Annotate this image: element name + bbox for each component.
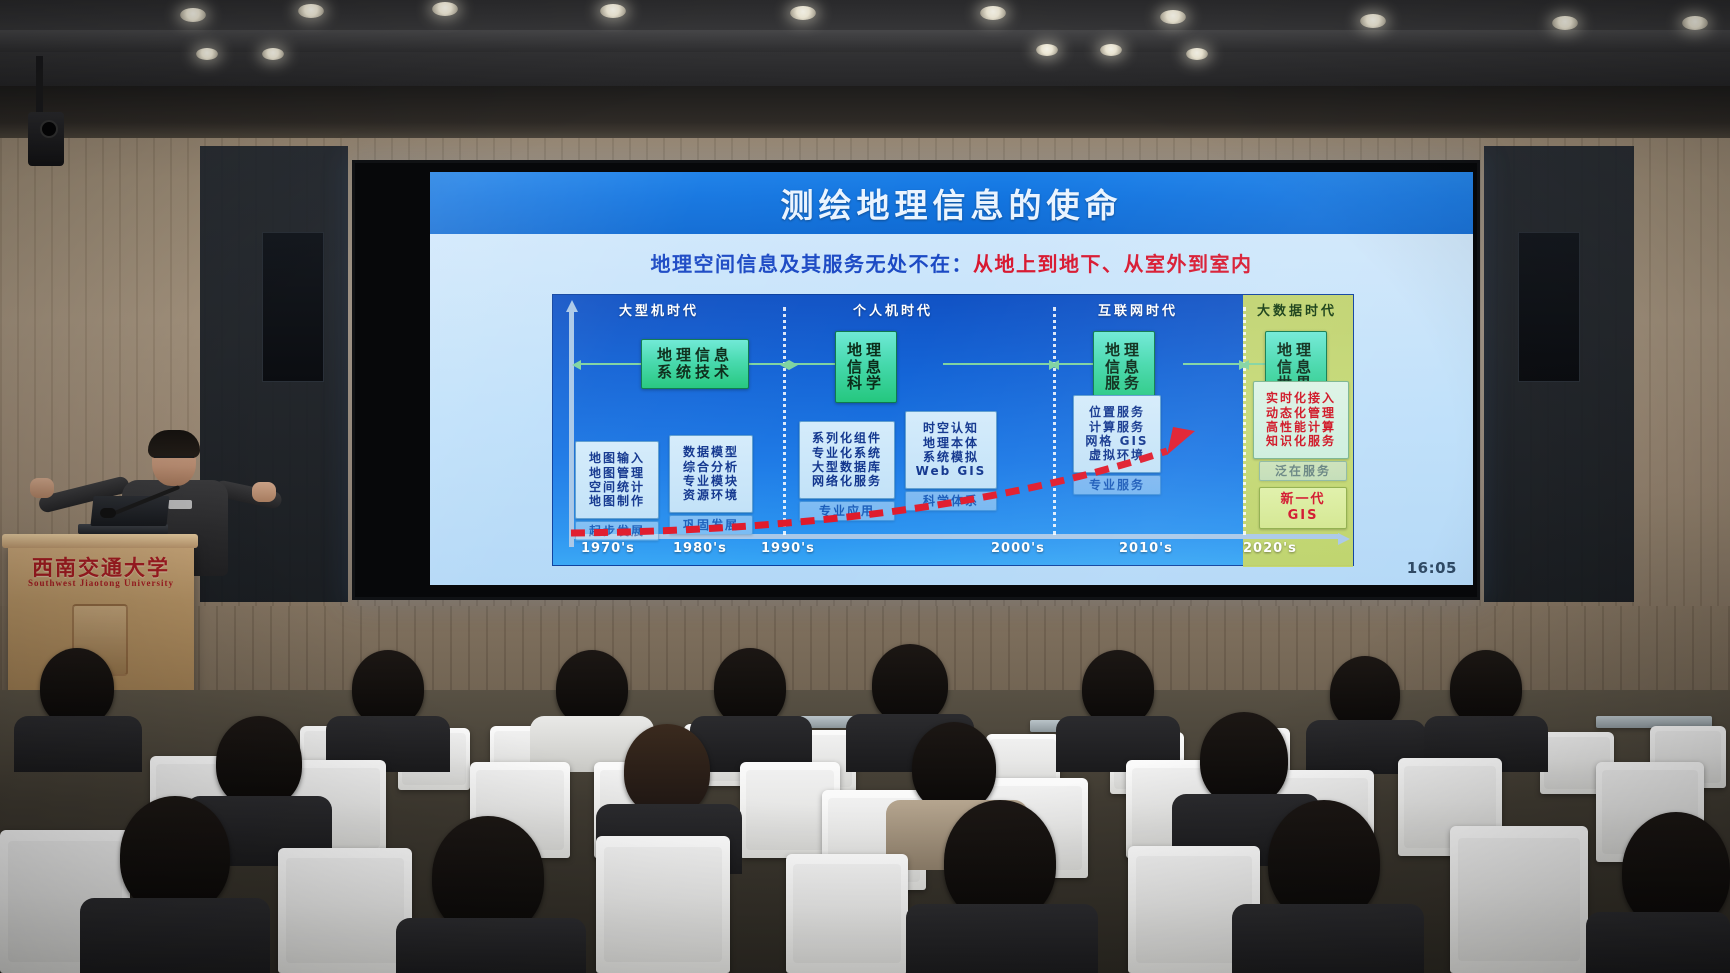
ceiling-band bbox=[0, 30, 1730, 52]
new-generation-line: 新一代 bbox=[1280, 492, 1325, 508]
detail-caption-4: 科学体系 bbox=[905, 491, 997, 511]
audience-head bbox=[216, 716, 302, 808]
detail-box-2: 数据模型 综合分析 专业模块 资源环境 bbox=[669, 435, 753, 513]
ceiling-light bbox=[980, 6, 1006, 20]
detail-caption-text: 专业服务 bbox=[1089, 478, 1145, 492]
presenter-left-hand bbox=[30, 478, 54, 498]
audience-shoulders bbox=[80, 898, 270, 973]
year-label: 2020's bbox=[1243, 541, 1297, 556]
audience-head bbox=[556, 650, 628, 726]
detail-item: 时空认知 bbox=[923, 421, 979, 435]
detail-item: 知识化服务 bbox=[1266, 434, 1336, 448]
audience-head bbox=[714, 648, 786, 726]
era-label-mainframe: 大型机时代 bbox=[619, 300, 699, 319]
detail-item: 高性能计算 bbox=[1266, 420, 1336, 434]
year-label: 1970's bbox=[581, 541, 635, 556]
microphone-icon bbox=[100, 508, 116, 518]
lecture-hall-photo: 测绘地理信息的使命 地理空间信息及其服务无处不在：从地上到地下、从室外到室内 大… bbox=[0, 0, 1730, 973]
new-generation-line: GIS bbox=[1288, 508, 1319, 524]
detail-box-1: 地图输入 地图管理 空间统计 地图制作 bbox=[575, 441, 659, 519]
era-divider bbox=[1053, 307, 1056, 535]
audience-shoulders bbox=[1586, 912, 1730, 973]
subtitle-red-text: 从地上到地下、从室外到室内 bbox=[973, 252, 1253, 276]
detail-caption-text: 泛在服务 bbox=[1275, 464, 1331, 478]
detail-item: 系列化组件 bbox=[812, 431, 882, 445]
chair bbox=[1450, 826, 1588, 973]
detail-item: 地理本体 bbox=[923, 436, 979, 450]
speaker-left bbox=[262, 232, 324, 382]
era-divider bbox=[783, 307, 786, 535]
audience-head bbox=[1200, 712, 1288, 806]
detail-item: 地图管理 bbox=[589, 466, 645, 480]
chair bbox=[596, 836, 730, 973]
audience-head bbox=[40, 648, 114, 726]
presenter-right-hand bbox=[252, 482, 276, 502]
detail-item: 网格 GIS bbox=[1085, 434, 1148, 448]
slide-title-text: 测绘地理信息的使命 bbox=[781, 179, 1123, 227]
detail-item: 地图输入 bbox=[589, 451, 645, 465]
year-label: 2000's bbox=[991, 541, 1045, 556]
slide-clock: 16:05 bbox=[1407, 559, 1457, 577]
stage-box-line: 信息 bbox=[847, 359, 885, 376]
detail-item: 空间统计 bbox=[589, 480, 645, 494]
ceiling-light bbox=[1552, 16, 1578, 30]
stage-box-line: 地理 bbox=[1277, 342, 1315, 359]
detail-item: 系统模拟 bbox=[923, 450, 979, 464]
ceiling-light bbox=[298, 4, 324, 18]
detail-caption-text: 起步发展 bbox=[589, 524, 645, 538]
detail-caption-text: 科学体系 bbox=[923, 494, 979, 508]
ceiling-light bbox=[196, 48, 218, 60]
audience-shoulders bbox=[906, 904, 1098, 973]
audience-head bbox=[352, 650, 424, 726]
stage-box-line: 信息 bbox=[1105, 359, 1143, 376]
new-generation-gis-box: 新一代 GIS bbox=[1259, 487, 1347, 529]
audience-head bbox=[120, 796, 230, 914]
audience-head bbox=[872, 644, 948, 724]
detail-box-4: 时空认知 地理本体 系统模拟 Web GIS bbox=[905, 411, 997, 489]
stage-box-line: 地理 bbox=[847, 342, 885, 359]
speaker-right bbox=[1518, 232, 1580, 382]
audience-head bbox=[912, 722, 996, 812]
detail-item: 虚拟环境 bbox=[1089, 448, 1145, 462]
ceiling-light bbox=[1682, 16, 1708, 30]
audience-head bbox=[1450, 650, 1522, 726]
camera-lens-icon bbox=[40, 120, 58, 138]
stage-box-line: 信息 bbox=[1277, 359, 1315, 376]
detail-item: 位置服务 bbox=[1089, 405, 1145, 419]
detail-item: Web GIS bbox=[916, 464, 987, 478]
year-label: 1990's bbox=[761, 541, 815, 556]
ceiling-light bbox=[790, 6, 816, 20]
stage-box-line: 地理信息 bbox=[657, 347, 733, 364]
detail-item: 专业化系统 bbox=[812, 446, 882, 460]
slide-body: 地理空间信息及其服务无处不在：从地上到地下、从室外到室内 大型机时代 个人机时代… bbox=[430, 234, 1473, 585]
gis-evolution-diagram: 大型机时代 个人机时代 互联网时代 大数据时代 地理信息 系统技术 地 bbox=[552, 294, 1354, 566]
podium-top-surface bbox=[2, 534, 198, 548]
ceiling-light bbox=[432, 2, 458, 16]
detail-box-5: 位置服务 计算服务 网格 GIS 虚拟环境 bbox=[1073, 395, 1161, 473]
detail-caption-text: 专业应用 bbox=[819, 504, 875, 518]
stage-box-line: 科学 bbox=[847, 375, 885, 392]
ceiling-light bbox=[180, 8, 206, 22]
presenter-glasses-icon bbox=[154, 456, 194, 465]
era-label-pc: 个人机时代 bbox=[853, 300, 933, 319]
stage-box-line: 系统技术 bbox=[657, 364, 733, 381]
detail-item: 实时化接入 bbox=[1266, 391, 1336, 405]
detail-caption-5: 专业服务 bbox=[1073, 475, 1161, 495]
stage-box-line: 地理 bbox=[1105, 342, 1143, 359]
slide-subtitle: 地理空间信息及其服务无处不在：从地上到地下、从室外到室内 bbox=[430, 248, 1473, 277]
stage-connector bbox=[943, 363, 1049, 365]
audience-shoulders bbox=[396, 918, 586, 973]
projection-screen[interactable]: 测绘地理信息的使命 地理空间信息及其服务无处不在：从地上到地下、从室外到室内 大… bbox=[430, 172, 1473, 585]
era-label-bigdata: 大数据时代 bbox=[1257, 300, 1337, 319]
detail-item: 资源环境 bbox=[683, 488, 739, 502]
detail-item: 大型数据库 bbox=[812, 460, 882, 474]
detail-item: 综合分析 bbox=[683, 460, 739, 474]
stage-connector bbox=[1183, 363, 1239, 365]
audience-head bbox=[1330, 656, 1400, 730]
audience-shoulders bbox=[1232, 904, 1424, 973]
ceiling-light bbox=[600, 4, 626, 18]
stage-connector bbox=[581, 363, 641, 365]
stage-connector bbox=[789, 363, 835, 365]
audience-shoulders bbox=[14, 716, 142, 772]
ceiling-light bbox=[1186, 48, 1208, 60]
detail-box-6: 实时化接入 动态化管理 高性能计算 知识化服务 bbox=[1253, 381, 1349, 459]
stage-box-gis-science: 地理 信息 科学 bbox=[835, 331, 897, 403]
stage-box-gis-technology: 地理信息 系统技术 bbox=[641, 339, 749, 389]
diagram-y-axis bbox=[569, 311, 574, 547]
timeline-year-labels: 1970's 1980's 1990's 2000's 2010's 2020'… bbox=[553, 541, 1355, 563]
year-label: 1980's bbox=[673, 541, 727, 556]
presenter-jacket-logo bbox=[168, 500, 192, 509]
slide-title-bar: 测绘地理信息的使命 bbox=[430, 172, 1473, 234]
ceiling-light bbox=[1100, 44, 1122, 56]
detail-caption-6: 泛在服务 bbox=[1259, 461, 1347, 481]
ceiling-light bbox=[1160, 10, 1186, 24]
audience-head bbox=[1082, 650, 1154, 726]
stage-box-line: 服务 bbox=[1105, 375, 1143, 392]
presenter-hair bbox=[148, 430, 200, 458]
subtitle-blue-text: 地理空间信息及其服务无处不在： bbox=[651, 252, 974, 276]
detail-box-3: 系列化组件 专业化系统 大型数据库 网络化服务 bbox=[799, 421, 895, 499]
year-label: 2010's bbox=[1119, 541, 1173, 556]
chair bbox=[278, 848, 412, 973]
detail-caption-2: 巩固发展 bbox=[669, 515, 753, 535]
detail-item: 数据模型 bbox=[683, 445, 739, 459]
detail-item: 动态化管理 bbox=[1266, 406, 1336, 420]
detail-item: 地图制作 bbox=[589, 494, 645, 508]
ceiling-light bbox=[262, 48, 284, 60]
detail-caption-3: 专业应用 bbox=[799, 501, 895, 521]
detail-caption-text: 巩固发展 bbox=[683, 518, 739, 532]
era-label-internet: 互联网时代 bbox=[1098, 300, 1178, 319]
ceiling-light bbox=[1036, 44, 1058, 56]
detail-caption-1: 起步发展 bbox=[575, 521, 659, 541]
wall-upper-dark-strip bbox=[0, 86, 1730, 138]
stage-box-gis-service: 地理 信息 服务 bbox=[1093, 331, 1155, 403]
ceiling-light bbox=[1360, 14, 1386, 28]
stage-connector bbox=[1059, 363, 1093, 365]
detail-item: 计算服务 bbox=[1089, 420, 1145, 434]
audience-head bbox=[624, 724, 710, 816]
podium-university-name-en: Southwest Jiaotong University bbox=[16, 578, 186, 588]
detail-item: 专业模块 bbox=[683, 474, 739, 488]
chair bbox=[786, 854, 908, 973]
detail-item: 网络化服务 bbox=[812, 474, 882, 488]
era-divider bbox=[1243, 307, 1246, 535]
